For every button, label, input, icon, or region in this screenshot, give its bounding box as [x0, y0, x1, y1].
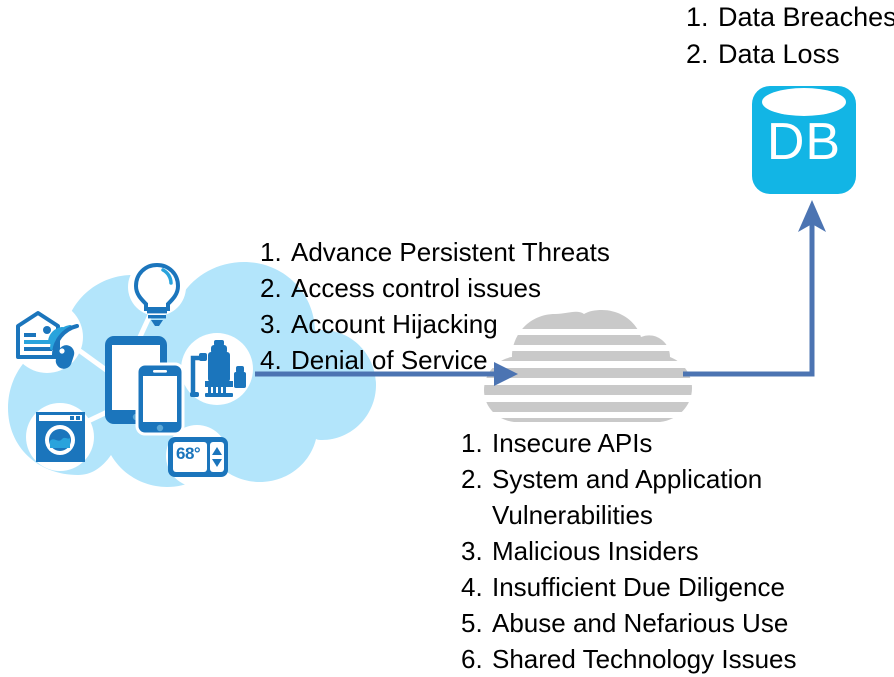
list-item-label: Data Loss — [718, 36, 840, 73]
circle-smart-tv — [11, 301, 83, 373]
list-item: 3.Account Hijacking — [260, 306, 610, 342]
list-item: 2.Access control issues — [260, 270, 610, 306]
list-item-number: 1. — [461, 425, 492, 461]
list-item-label: Insufficient Due Diligence — [492, 569, 785, 605]
cloud-to-db-arrow — [683, 200, 826, 374]
list-item-label: Insecure APIs — [492, 425, 652, 461]
list-item-number: 3. — [260, 306, 291, 342]
list-item: 5.Abuse and Nefarious Use — [461, 605, 797, 641]
list-item-label: Access control issues — [291, 270, 541, 306]
list-item: 1.Insecure APIs — [461, 425, 797, 461]
list-item-number: 2. — [686, 36, 718, 73]
list-item-number: 2. — [260, 270, 291, 306]
list-item-label: System and Application Vulnerabilities — [492, 461, 762, 533]
cloud-threats-list: 1.Insecure APIs 2.System and Application… — [461, 425, 797, 677]
list-item-number: 2. — [461, 461, 492, 497]
list-item: 1.Advance Persistent Threats — [260, 234, 610, 270]
list-item-number: 4. — [260, 342, 291, 378]
diagram-canvas: DB 68° 1.Data Breaches 2.Data Loss 1.Adv… — [0, 0, 894, 662]
list-item: 1.Data Breaches — [686, 0, 894, 36]
iot-to-cloud-threats-list: 1.Advance Persistent Threats 2.Access co… — [260, 234, 610, 378]
washing-machine-icon — [36, 412, 85, 462]
list-item-label: Shared Technology Issues — [492, 641, 797, 677]
list-item-number: 1. — [260, 234, 291, 270]
thermostat-degree: ° — [194, 444, 200, 463]
list-item-number: 5. — [461, 605, 492, 641]
list-item-number: 3. — [461, 533, 492, 569]
thermostat-reading: 68° — [176, 444, 200, 464]
list-item: 2.Data Loss — [686, 36, 894, 73]
list-item-number: 4. — [461, 569, 492, 605]
list-item-label: Advance Persistent Threats — [291, 234, 610, 270]
list-item: 6.Shared Technology Issues — [461, 641, 797, 677]
list-item-label: Abuse and Nefarious Use — [492, 605, 788, 641]
db-node-label: DB — [752, 113, 856, 171]
list-item: 4.Insufficient Due Diligence — [461, 569, 797, 605]
list-item-number: 1. — [686, 0, 718, 36]
database-threats-list: 1.Data Breaches 2.Data Loss — [686, 0, 894, 73]
list-item: 4.Denial of Service — [260, 342, 610, 378]
list-item-label: Denial of Service — [291, 342, 488, 378]
list-item: 3.Malicious Insiders — [461, 533, 797, 569]
list-item-label: Malicious Insiders — [492, 533, 699, 569]
list-item-label: Data Breaches — [718, 0, 894, 36]
thermostat-number: 68 — [176, 444, 194, 463]
list-item: 2.System and Application Vulnerabilities — [461, 461, 797, 533]
list-item-number: 6. — [461, 641, 492, 677]
list-item-label: Account Hijacking — [291, 306, 498, 342]
